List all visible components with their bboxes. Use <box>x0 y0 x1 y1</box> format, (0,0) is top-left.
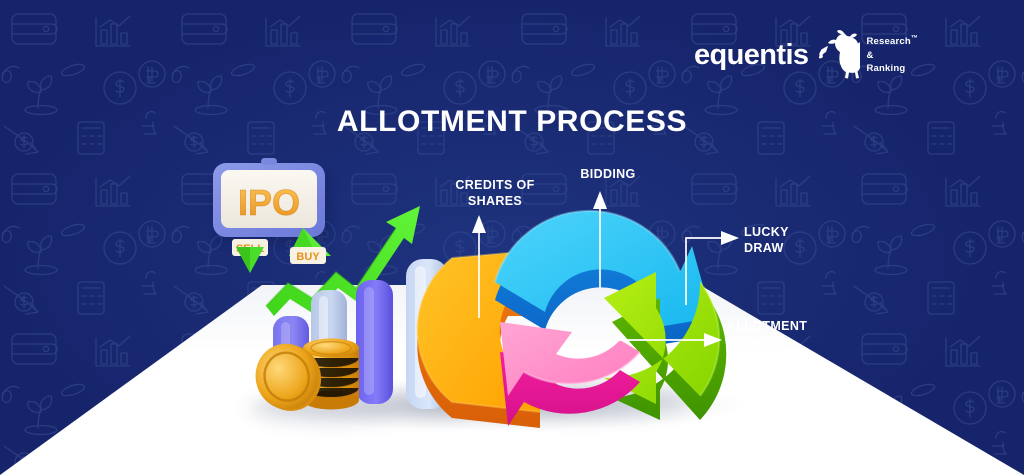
brand-tagline-line3: Ranking <box>866 62 918 76</box>
label-allotment-timings: ALLOTMENT TIMINGS <box>727 319 837 350</box>
pointer-credits-of-shares <box>472 215 486 318</box>
label-lucky-draw: LUCKY DRAW <box>744 225 844 256</box>
label-lucky-draw-line2: DRAW <box>744 241 844 257</box>
label-credits-of-shares: CREDITS OF SHARES <box>440 178 550 209</box>
pointer-bidding <box>593 191 607 288</box>
brand-tagline: Research™ & Ranking <box>866 34 918 76</box>
brand-wordmark: equentis <box>694 41 808 70</box>
brand-logo[interactable]: equentis Research™ & Ranking <box>694 26 918 84</box>
label-bidding-line1: BIDDING <box>553 167 663 183</box>
page-title: ALLOTMENT PROCESS <box>0 105 1024 139</box>
label-credits-of-shares-line1: CREDITS OF <box>440 178 550 194</box>
label-bidding: BIDDING <box>553 167 663 183</box>
brand-tagline-line2: & <box>866 49 918 63</box>
label-allotment-timings-line2: TIMINGS <box>727 335 837 351</box>
label-credits-of-shares-line2: SHARES <box>440 194 550 210</box>
pointer-allotment-timings <box>618 333 722 347</box>
pointer-lucky-draw <box>686 231 739 305</box>
bull-icon <box>814 26 860 84</box>
label-lucky-draw-line1: LUCKY <box>744 225 844 241</box>
brand-tagline-line1: Research™ <box>866 34 918 49</box>
infographic-canvas: IPO IPO SELL BUY <box>0 0 1024 475</box>
label-allotment-timings-line1: ALLOTMENT <box>727 319 837 335</box>
